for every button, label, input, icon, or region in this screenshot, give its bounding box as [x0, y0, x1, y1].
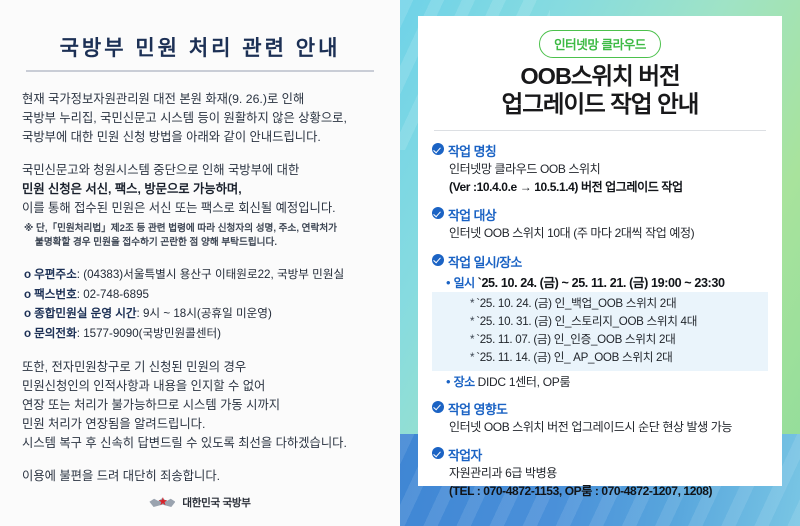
- contact-value: : 9시 ~ 18시(공휴일 미운영): [137, 307, 272, 320]
- section-line: (TEL : 070-4872-1153, OP룸 : 070-4872-120…: [449, 483, 768, 501]
- closing-line: 시스템 복구 후 신속히 답변드릴 수 있도록 최선을 다하겠습니다.: [22, 436, 347, 450]
- list-item: o팩스번호: 02-748-6895: [24, 286, 380, 304]
- section-title: 작업 명칭: [448, 141, 496, 160]
- section-title: 작업 일시/장소: [448, 252, 522, 271]
- bullet-dot-icon: •: [446, 275, 451, 291]
- check-circle-icon: [432, 447, 444, 459]
- section-header: 작업 대상: [432, 205, 768, 224]
- footnote-line-2: 불명확할 경우 민원을 접수하기 곤란한 점 양해 부탁드립니다.: [24, 236, 380, 250]
- bullet-marker-icon: o: [24, 268, 31, 281]
- paragraph-line-bold: 민원 신청은 서신, 팩스, 방문으로 가능하며,: [22, 182, 242, 196]
- contact-label: 문의전화: [34, 327, 77, 340]
- section-line: 자원관리과 6급 박병용: [449, 465, 768, 483]
- section-work-name: 작업 명칭 인터넷망 클라우드 OOB 스위치 (Ver :10.4.0.e →…: [432, 141, 768, 196]
- closing-line: 민원신청인의 인적사항과 내용을 인지할 수 없어: [22, 379, 265, 393]
- list-item: *`25. 11. 14. (금) 인_ AP_OOB 스위치 2대: [432, 349, 768, 367]
- card-title-line-2: 업그레이드 작업 안내: [502, 91, 699, 117]
- card-title-line-1: OOB스위치 버전: [520, 63, 679, 89]
- schedule-datetime-label: 일시: [454, 274, 475, 291]
- section-schedule: 작업 일시/장소 • 일시 `25. 10. 24. (금) ~ 25. 11.…: [432, 252, 768, 390]
- contact-label: 팩스번호: [34, 288, 77, 301]
- closing-line: 민원 처리가 연장됨을 알려드립니다.: [22, 417, 205, 431]
- contact-value: : 1577-9090(국방민원콜센터): [77, 327, 221, 340]
- schedule-place-label: 장소: [454, 373, 475, 390]
- right-notice-panel: 인터넷망 클라우드 OOB스위치 버전 업그레이드 작업 안내 작업 명칭 인터…: [400, 0, 800, 526]
- contact-list: o우편주소: (04383)서울특별시 용산구 이태원로22, 국방부 민원실 …: [24, 266, 380, 342]
- closing-line: 연장 또는 처리가 불가능하므로 시스템 가동 시까지: [22, 398, 280, 412]
- closing-paragraph: 또한, 전자민원창구로 기 신청된 민원의 경우 민원신청인의 인적사항과 내용…: [22, 358, 380, 453]
- list-item: o종합민원실 운영 시간: 9시 ~ 18시(공휴일 미운영): [24, 305, 380, 323]
- badge-row: 인터넷망 클라우드: [432, 30, 768, 58]
- section-impact: 작업 영향도 인터넷 OOB 스위치 버전 업그레이드시 순단 현상 발생 가능: [432, 399, 768, 437]
- list-item: *`25. 11. 07. (금) 인_인증_OOB 스위치 2대: [432, 331, 768, 349]
- contact-label: 우편주소: [34, 268, 77, 281]
- section-line: 인터넷 OOB 스위치 버전 업그레이드시 순단 현상 발생 가능: [449, 419, 768, 437]
- schedule-datetime-row: • 일시 `25. 10. 24. (금) ~ 25. 11. 21. (금) …: [432, 272, 768, 291]
- sub-item-text: `25. 10. 31. (금) 인_스토리지_OOB 스위치 4대: [476, 315, 697, 328]
- list-item: *`25. 10. 31. (금) 인_스토리지_OOB 스위치 4대: [432, 313, 768, 331]
- paragraph-line: 이를 통해 접수된 민원은 서신 또는 팩스로 회신될 예정입니다.: [22, 201, 336, 215]
- section-header: 작업 일시/장소: [432, 252, 768, 271]
- sub-item-text: `25. 10. 24. (금) 인_백업_OOB 스위치 2대: [476, 297, 676, 310]
- paragraph-line: 국민신문고와 청원시스템 중단으로 인해 국방부에 대한: [22, 163, 299, 177]
- title-divider: [26, 70, 374, 72]
- paragraph-line: 현재 국가정보자원관리원 대전 본원 화재(9. 26.)로 인해: [22, 92, 304, 106]
- status-badge: 인터넷망 클라우드: [539, 30, 661, 58]
- bullet-marker-icon: o: [24, 327, 31, 340]
- paragraph-line: 국방부 누리집, 국민신문고 시스템 등이 원활하지 않은 상황으로,: [22, 111, 347, 125]
- bullet-marker-icon: o: [24, 307, 31, 320]
- section-header: 작업자: [432, 445, 768, 464]
- sub-bullet-icon: *: [470, 333, 474, 346]
- mnd-wing-star-emblem-icon: [149, 495, 175, 510]
- section-work-target: 작업 대상 인터넷 OOB 스위치 10대 (주 마다 2대씩 작업 예정): [432, 205, 768, 243]
- section-title: 작업자: [448, 445, 482, 464]
- intro-paragraph-2: 국민신문고와 청원시스템 중단으로 인해 국방부에 대한 민원 신청은 서신, …: [22, 161, 380, 218]
- section-worker: 작업자 자원관리과 6급 박병용 (TEL : 070-4872-1153, O…: [432, 445, 768, 500]
- section-body: 자원관리과 6급 박병용 (TEL : 070-4872-1153, OP룸 :…: [432, 465, 768, 500]
- schedule-sub-list: *`25. 10. 24. (금) 인_백업_OOB 스위치 2대 *`25. …: [432, 292, 768, 371]
- schedule-place-row: • 장소 DIDC 1센터, OP룸: [432, 373, 768, 390]
- sub-item-text: `25. 11. 14. (금) 인_ AP_OOB 스위치 2대: [476, 351, 672, 364]
- section-header: 작업 명칭: [432, 141, 768, 160]
- sub-bullet-icon: *: [470, 297, 474, 310]
- paragraph-line: 국방부에 대한 민원 신청 방법을 아래와 같이 안내드립니다.: [22, 130, 321, 144]
- footer-logo: 대한민국 국방부: [0, 495, 400, 510]
- list-item: o우편주소: (04383)서울특별시 용산구 이태원로22, 국방부 민원실: [24, 266, 380, 284]
- check-circle-icon: [432, 143, 444, 155]
- sub-item-text: `25. 11. 07. (금) 인_인증_OOB 스위치 2대: [476, 333, 675, 346]
- left-notice-panel: 국방부 민원 처리 관련 안내 현재 국가정보자원관리원 대전 본원 화재(9.…: [0, 0, 400, 526]
- check-circle-icon: [432, 401, 444, 413]
- apology-text: 이용에 불편을 드려 대단히 죄송합니다.: [22, 467, 380, 486]
- card-divider: [434, 130, 766, 131]
- bullet-marker-icon: o: [24, 288, 31, 301]
- section-line: 인터넷망 클라우드 OOB 스위치: [449, 161, 768, 179]
- contact-label: 종합민원실 운영 시간: [34, 307, 136, 320]
- legal-footnote: ※ 단,「민원처리법」제2조 등 관련 법령에 따라 신청자의 성명, 주소, …: [24, 222, 380, 250]
- section-body: 인터넷망 클라우드 OOB 스위치 (Ver :10.4.0.e → 10.5.…: [432, 161, 768, 196]
- list-item: o문의전화: 1577-9090(국방민원콜센터): [24, 325, 380, 343]
- check-circle-icon: [432, 207, 444, 219]
- card-title: OOB스위치 버전 업그레이드 작업 안내: [432, 62, 768, 118]
- section-body: 인터넷 OOB 스위치 10대 (주 마다 2대씩 작업 예정): [432, 225, 768, 243]
- check-circle-icon: [432, 254, 444, 266]
- contact-value: : (04383)서울특별시 용산구 이태원로22, 국방부 민원실: [77, 268, 344, 281]
- footer-logo-label: 대한민국 국방부: [182, 495, 250, 510]
- footnote-line-1: ※ 단,「민원처리법」제2조 등 관련 법령에 따라 신청자의 성명, 주소, …: [24, 223, 337, 234]
- bullet-dot-icon: •: [446, 374, 451, 390]
- work-notice-card: 인터넷망 클라우드 OOB스위치 버전 업그레이드 작업 안내 작업 명칭 인터…: [418, 16, 782, 486]
- sub-bullet-icon: *: [470, 351, 474, 364]
- section-body: 인터넷 OOB 스위치 버전 업그레이드시 순단 현상 발생 가능: [432, 419, 768, 437]
- page-title: 국방부 민원 처리 관련 안내: [20, 32, 380, 62]
- section-line: (Ver :10.4.0.e → 10.5.1.4) 버전 업그레이드 작업: [449, 179, 768, 197]
- closing-line: 또한, 전자민원창구로 기 신청된 민원의 경우: [22, 360, 246, 374]
- section-title: 작업 대상: [448, 205, 496, 224]
- schedule-place-value: DIDC 1센터, OP룸: [478, 373, 571, 390]
- sub-bullet-icon: *: [470, 315, 474, 328]
- section-title: 작업 영향도: [448, 399, 507, 418]
- schedule-datetime-value: `25. 10. 24. (금) ~ 25. 11. 21. (금) 19:00…: [478, 272, 725, 291]
- list-item: *`25. 10. 24. (금) 인_백업_OOB 스위치 2대: [432, 295, 768, 313]
- section-line: 인터넷 OOB 스위치 10대 (주 마다 2대씩 작업 예정): [449, 225, 768, 243]
- notice-page: 국방부 민원 처리 관련 안내 현재 국가정보자원관리원 대전 본원 화재(9.…: [0, 0, 800, 526]
- contact-value: : 02-748-6895: [77, 288, 149, 301]
- intro-paragraph-1: 현재 국가정보자원관리원 대전 본원 화재(9. 26.)로 인해 국방부 누리…: [22, 90, 380, 147]
- section-header: 작업 영향도: [432, 399, 768, 418]
